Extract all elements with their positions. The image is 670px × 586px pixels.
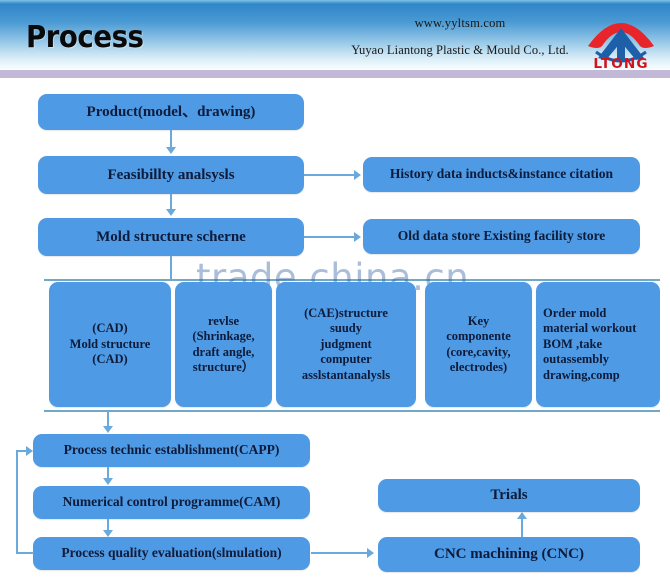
arrowhead-down-quality	[103, 530, 113, 537]
order-line-4: outassembly	[543, 352, 609, 368]
connector-mold-to-designrow	[170, 256, 172, 280]
cad-line-2: Mold structure	[70, 337, 151, 353]
header-accent-band	[0, 70, 670, 78]
flow-box-product[interactable]: Product(model、drawing)	[38, 94, 304, 130]
flow-box-mold-scheme[interactable]: Mold structure scherne	[38, 218, 304, 256]
cae-line-3: judgment	[320, 337, 371, 353]
flow-box-cae[interactable]: (CAE)structure suudy judgment computer a…	[276, 282, 416, 407]
flow-box-feasibility[interactable]: Feasibillty analsysls	[38, 156, 304, 194]
cae-line-4: computer	[320, 352, 371, 368]
arrowhead-right-capp-feedback	[26, 446, 33, 456]
flow-box-order-mold[interactable]: Order mold material workout BOM ,take ou…	[536, 282, 660, 407]
key-line-1: Key	[468, 314, 490, 330]
arrowhead-right-cnc	[367, 548, 374, 558]
flow-box-cam[interactable]: Numerical control programme(CAM)	[33, 486, 310, 519]
key-line-4: electrodes)	[450, 360, 507, 376]
design-row-bottom-bar	[44, 410, 660, 412]
flow-box-key-components[interactable]: Key componente (core,cavity, electrodes)	[425, 282, 532, 407]
arrowhead-down-cam	[103, 478, 113, 485]
page-title: Process	[26, 20, 144, 55]
flow-box-history-data[interactable]: History data inducts&instance citation	[363, 157, 640, 192]
company-info: www.yyltsm.com Yuyao Liantong Plastic & …	[340, 16, 580, 58]
flow-box-old-data[interactable]: Old data store Existing facility store	[363, 219, 640, 254]
page-header: Process www.yyltsm.com Yuyao Liantong Pl…	[0, 0, 670, 78]
arrowhead-right-history	[354, 170, 361, 180]
cae-line-5: asslstantanalysls	[302, 368, 390, 384]
revise-line-3: draft angle,	[193, 345, 255, 361]
logo-wordmark: LTONG	[576, 57, 666, 72]
arrowhead-right-olddata	[354, 232, 361, 242]
cae-line-2: suudy	[330, 321, 362, 337]
connector-quality-to-cnc	[311, 552, 369, 554]
order-line-3: BOM ,take	[543, 337, 602, 353]
revise-line-4: structure）	[193, 360, 255, 376]
arrowhead-down-mold	[166, 209, 176, 216]
flow-box-cnc[interactable]: CNC machining (CNC)	[378, 537, 640, 572]
cad-line-1: (CAD)	[92, 321, 127, 337]
flow-box-revise[interactable]: revlse (Shrinkage, draft angle, structur…	[175, 282, 272, 407]
feedback-loop-vertical-segment	[16, 450, 18, 554]
feedback-loop-bottom-segment	[16, 552, 34, 554]
ltong-logo: LTONG	[578, 2, 664, 74]
arrowhead-up-trials	[517, 512, 527, 519]
company-name: Yuyao Liantong Plastic & Mould Co., Ltd.	[340, 43, 580, 58]
key-line-3: (core,cavity,	[446, 345, 510, 361]
order-line-5: drawing,comp	[543, 368, 620, 384]
connector-feasibility-to-history	[304, 174, 356, 176]
revise-line-1: revlse	[208, 314, 239, 330]
connector-mold-to-olddata	[304, 236, 356, 238]
revise-line-2: (Shrinkage,	[192, 329, 254, 345]
flow-box-capp[interactable]: Process technic establishment(CAPP)	[33, 434, 310, 467]
design-row-top-bar	[44, 279, 660, 281]
cae-line-1: (CAE)structure	[304, 306, 388, 322]
flow-box-quality[interactable]: Process quality evaluation(slmulation)	[33, 537, 310, 570]
order-line-2: material workout	[543, 321, 636, 337]
arrowhead-down-feasibility	[166, 147, 176, 154]
arrowhead-down-capp	[103, 426, 113, 433]
website-url: www.yyltsm.com	[340, 16, 580, 31]
key-line-2: componente	[446, 329, 511, 345]
cad-line-3: (CAD)	[92, 352, 127, 368]
order-line-1: Order mold	[543, 306, 606, 322]
flow-box-trials[interactable]: Trials	[378, 479, 640, 512]
flow-box-cad[interactable]: (CAD) Mold structure (CAD)	[49, 282, 171, 407]
